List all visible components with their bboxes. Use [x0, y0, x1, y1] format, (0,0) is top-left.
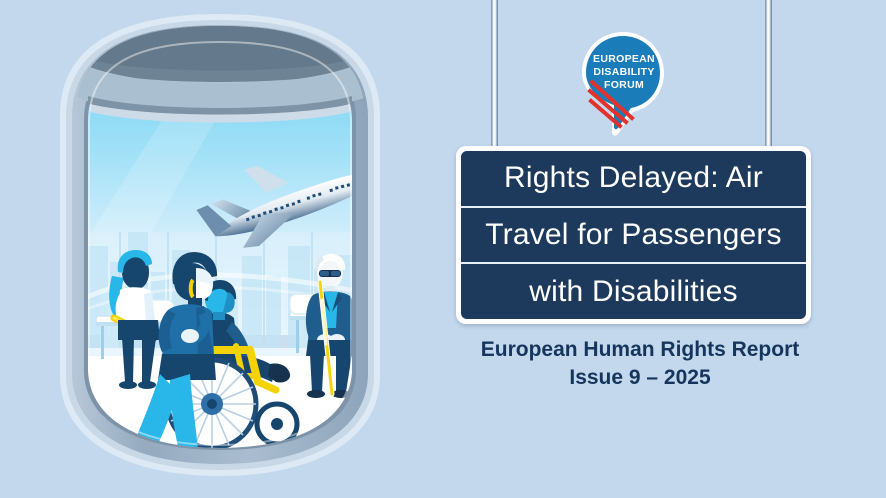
subtitle-line-2: Issue 9 – 2025 — [440, 364, 840, 392]
title-sign: Rights Delayed: Air Travel for Passenger… — [456, 146, 811, 324]
logo-line-2: DISABILITY — [593, 66, 654, 78]
title-line-1: Rights Delayed: Air — [461, 151, 806, 206]
airplane-window-illustration — [0, 0, 440, 498]
title-sign-inner: Rights Delayed: Air Travel for Passenger… — [461, 151, 806, 319]
logo-line-3: FORUM — [604, 79, 644, 91]
cover-text-panel: EUROPEAN DISABILITY FORUM Rights Delayed… — [440, 0, 886, 498]
sign-pole-left — [491, 0, 498, 152]
title-line-2: Travel for Passengers — [461, 206, 806, 263]
wheelchair-caster-wheel — [257, 404, 297, 444]
european-disability-forum-logo: EUROPEAN DISABILITY FORUM — [578, 30, 668, 140]
subtitle-block: European Human Rights Report Issue 9 – 2… — [440, 336, 840, 392]
subtitle-line-1: European Human Rights Report — [440, 336, 840, 364]
title-line-3: with Disabilities — [461, 262, 806, 319]
logo-line-1: EUROPEAN — [593, 53, 655, 65]
sign-pole-right — [765, 0, 772, 152]
report-cover: EUROPEAN DISABILITY FORUM Rights Delayed… — [0, 0, 886, 498]
